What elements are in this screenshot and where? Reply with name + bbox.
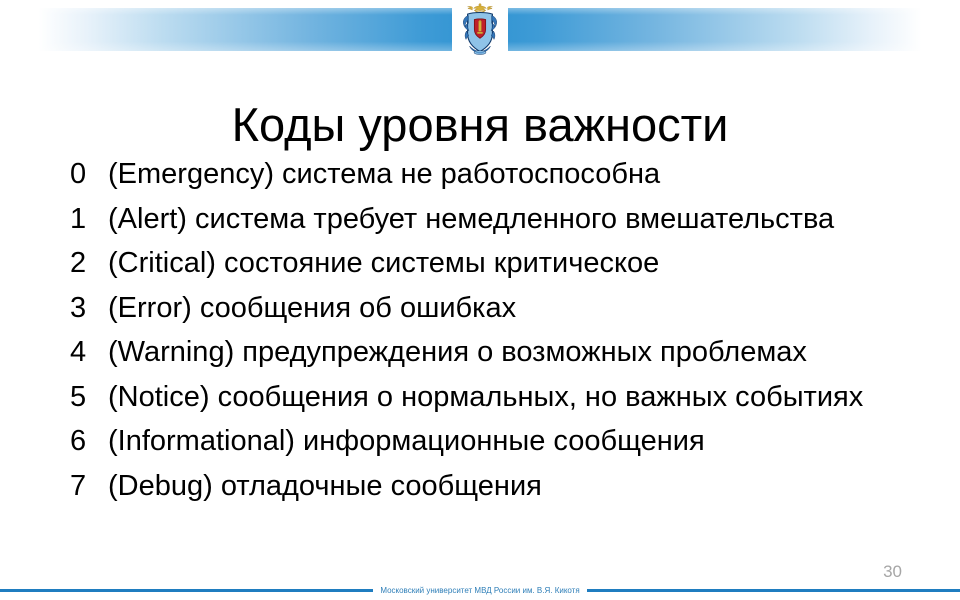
severity-code-description: (Notice) сообщения о нормальных, но важн… [108, 375, 930, 420]
severity-code-number: 6 [70, 419, 108, 464]
coat-of-arms-emblem [455, 1, 505, 57]
slide-footer: Московский университет МВД России им. В.… [0, 583, 960, 597]
list-item: 4 (Warning) предупреждения о возможных п… [70, 330, 930, 375]
list-item: 2 (Critical) состояние системы критическ… [70, 241, 930, 286]
page-title: Коды уровня важности [0, 99, 960, 151]
list-item: 0 (Emergency) система не работоспособна [70, 152, 930, 197]
slide-root: Коды уровня важности 0 (Emergency) систе… [0, 0, 960, 600]
severity-code-description: (Alert) система требует немедленного вме… [108, 197, 930, 242]
severity-code-description: (Emergency) система не работоспособна [108, 152, 930, 197]
severity-code-number: 4 [70, 330, 108, 375]
severity-code-number: 5 [70, 375, 108, 420]
footer-institution-name: Московский университет МВД России им. В.… [373, 587, 586, 595]
severity-code-list: 0 (Emergency) система не работоспособна … [70, 152, 930, 508]
severity-code-description: (Debug) отладочные сообщения [108, 464, 930, 509]
severity-code-number: 1 [70, 197, 108, 242]
severity-code-description: (Critical) состояние системы критическое [108, 241, 930, 286]
footer-rule-left [0, 589, 373, 592]
severity-code-number: 3 [70, 286, 108, 331]
list-item: 6 (Informational) информационные сообщен… [70, 419, 930, 464]
list-item: 3 (Error) сообщения об ошибках [70, 286, 930, 331]
list-item: 7 (Debug) отладочные сообщения [70, 464, 930, 509]
list-item: 5 (Notice) сообщения о нормальных, но ва… [70, 375, 930, 420]
footer-rule-right [587, 589, 960, 592]
severity-code-number: 0 [70, 152, 108, 197]
list-item: 1 (Alert) система требует немедленного в… [70, 197, 930, 242]
severity-code-description: (Informational) информационные сообщения [108, 419, 930, 464]
severity-code-description: (Error) сообщения об ошибках [108, 286, 930, 331]
page-number: 30 [883, 562, 902, 582]
severity-code-description: (Warning) предупреждения о возможных про… [108, 330, 930, 375]
severity-code-number: 7 [70, 464, 108, 509]
severity-code-number: 2 [70, 241, 108, 286]
